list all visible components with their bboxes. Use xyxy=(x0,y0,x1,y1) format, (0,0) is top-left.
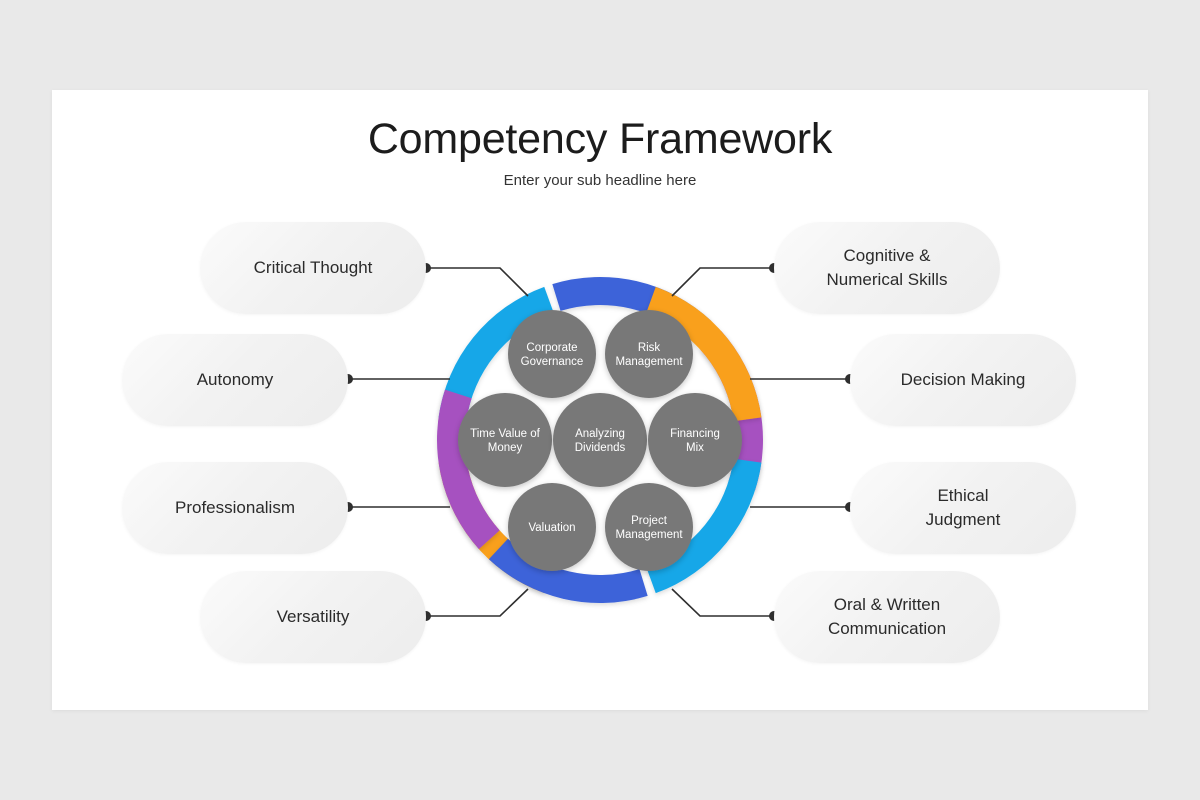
label-pill-versatility[interactable]: Versatility xyxy=(200,571,426,663)
label-pill-cognitive-numerical-skills[interactable]: Cognitive & Numerical Skills xyxy=(774,222,1000,314)
label-pill-oral-written-communication[interactable]: Oral & Written Communication xyxy=(774,571,1000,663)
label-pill-text: Cognitive & Numerical Skills xyxy=(827,244,948,292)
label-pill-ethical-judgment[interactable]: Ethical Judgment xyxy=(850,462,1076,554)
label-pill-text: Oral & Written Communication xyxy=(828,593,946,641)
label-pill-autonomy[interactable]: Autonomy xyxy=(122,334,348,426)
label-pill-professionalism[interactable]: Professionalism xyxy=(122,462,348,554)
page-title: Competency Framework xyxy=(52,115,1148,164)
label-pill-text: Professionalism xyxy=(175,496,295,520)
label-pill-text: Versatility xyxy=(277,605,350,629)
label-pill-text: Autonomy xyxy=(197,368,274,392)
label-pill-text: Critical Thought xyxy=(254,256,373,280)
page-subtitle: Enter your sub headline here xyxy=(52,172,1148,189)
slide-canvas: Competency Framework Enter your sub head… xyxy=(0,0,1200,800)
label-pill-text: Ethical Judgment xyxy=(926,484,1001,532)
label-pill-critical-thought[interactable]: Critical Thought xyxy=(200,222,426,314)
label-pill-decision-making[interactable]: Decision Making xyxy=(850,334,1076,426)
label-pill-text: Decision Making xyxy=(901,368,1026,392)
